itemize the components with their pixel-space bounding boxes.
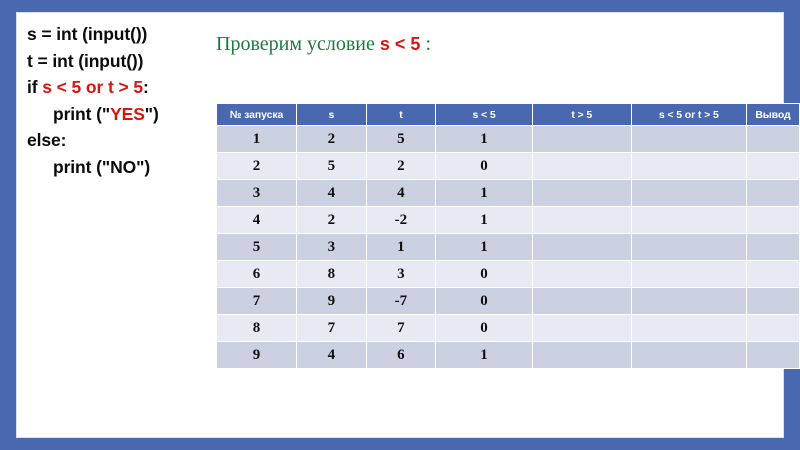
table-cell: 2 [217, 153, 296, 179]
code-keyword-highlight: s < 5 or t > 5 [42, 77, 143, 97]
table-cell: 2 [297, 207, 366, 233]
table-cell [747, 315, 799, 341]
table-cell: 3 [297, 234, 366, 260]
table-row: 79-70 [217, 288, 799, 314]
table-cell [632, 261, 746, 287]
table-cell: 5 [217, 234, 296, 260]
table-cell: 1 [436, 342, 532, 368]
column-header: № запуска [217, 104, 296, 125]
table-cell: 9 [217, 342, 296, 368]
table-cell: 4 [297, 180, 366, 206]
table-cell: 4 [367, 180, 436, 206]
code-text: else: [27, 130, 66, 150]
table-cell [632, 342, 746, 368]
table-cell: 7 [217, 288, 296, 314]
column-header: s < 5 [436, 104, 532, 125]
table-cell [533, 261, 631, 287]
table-cell [533, 126, 631, 152]
table-cell: 7 [297, 315, 366, 341]
table-cell: 9 [297, 288, 366, 314]
table-cell: -2 [367, 207, 436, 233]
table-cell [747, 153, 799, 179]
table-cell: 6 [367, 342, 436, 368]
table-cell [632, 180, 746, 206]
table-cell [533, 234, 631, 260]
trace-table: № запускаsts < 5t > 5s < 5 or t > 5Вывод… [216, 103, 800, 369]
table-cell [747, 180, 799, 206]
table-cell [632, 207, 746, 233]
table-cell [747, 342, 799, 368]
table-cell: 8 [217, 315, 296, 341]
code-text: print (" [53, 104, 110, 124]
table-cell: 1 [436, 126, 532, 152]
table-cell [632, 234, 746, 260]
table-cell [533, 342, 631, 368]
code-text: s = int (input()) [27, 24, 147, 44]
table-cell: 0 [436, 315, 532, 341]
table-cell: 1 [367, 234, 436, 260]
table-row: 8770 [217, 315, 799, 341]
column-header: t > 5 [533, 104, 631, 125]
table-cell: 0 [436, 153, 532, 179]
table-cell [747, 126, 799, 152]
python-code-block: s = int (input())t = int (input())if s <… [27, 21, 217, 180]
heading-suffix: : [425, 33, 431, 55]
code-line: t = int (input()) [27, 48, 217, 75]
table-cell: 7 [367, 315, 436, 341]
table-row: 1251 [217, 126, 799, 152]
column-header: s < 5 or t > 5 [632, 104, 746, 125]
table-cell: 1 [436, 207, 532, 233]
table-cell: 3 [217, 180, 296, 206]
section-heading: Проверим условие s < 5 : [216, 33, 431, 56]
table-body: 12512520344142-215311683079-7087709461 [217, 126, 799, 368]
slide-canvas: s = int (input())t = int (input())if s <… [0, 0, 800, 450]
column-header: s [297, 104, 366, 125]
column-header: t [367, 104, 436, 125]
code-text: : [143, 77, 149, 97]
table-cell: 0 [436, 288, 532, 314]
code-text: t = int (input()) [27, 51, 143, 71]
table-cell [747, 261, 799, 287]
code-text: if [27, 77, 42, 97]
table-row: 2520 [217, 153, 799, 179]
table-row: 5311 [217, 234, 799, 260]
table-cell: 0 [436, 261, 532, 287]
table-cell [533, 315, 631, 341]
code-text: print ("NO") [53, 157, 150, 177]
table-header-row: № запускаsts < 5t > 5s < 5 or t > 5Вывод [217, 104, 799, 125]
table-cell [533, 288, 631, 314]
table-cell: 1 [436, 234, 532, 260]
table-cell: 1 [217, 126, 296, 152]
table-cell: 5 [367, 126, 436, 152]
table-cell: 2 [367, 153, 436, 179]
table-cell [533, 180, 631, 206]
slide-content-area: s = int (input())t = int (input())if s <… [16, 12, 784, 438]
table-cell: 8 [297, 261, 366, 287]
table-cell: 1 [436, 180, 532, 206]
table-cell [533, 153, 631, 179]
table-cell: 4 [217, 207, 296, 233]
table-cell: 5 [297, 153, 366, 179]
table-cell [747, 288, 799, 314]
code-line: if s < 5 or t > 5: [27, 74, 217, 101]
table-cell: 6 [217, 261, 296, 287]
table-cell [632, 153, 746, 179]
table-row: 9461 [217, 342, 799, 368]
table-cell [533, 207, 631, 233]
column-header: Вывод [747, 104, 799, 125]
code-line: else: [27, 127, 217, 154]
table-row: 6830 [217, 261, 799, 287]
code-line: print ("YES") [27, 101, 217, 128]
table-cell [632, 126, 746, 152]
table-row: 3441 [217, 180, 799, 206]
code-keyword-highlight: YES [110, 104, 145, 124]
table-cell: 2 [297, 126, 366, 152]
table-cell: 3 [367, 261, 436, 287]
heading-prefix: Проверим условие [216, 33, 375, 55]
table-cell [632, 315, 746, 341]
table-header: № запускаsts < 5t > 5s < 5 or t > 5Вывод [217, 104, 799, 125]
table-cell [747, 234, 799, 260]
heading-condition: s < 5 [380, 34, 421, 54]
table-cell [747, 207, 799, 233]
code-text: ") [145, 104, 159, 124]
table-cell: 4 [297, 342, 366, 368]
code-line: print ("NO") [27, 154, 217, 181]
code-line: s = int (input()) [27, 21, 217, 48]
table-cell [632, 288, 746, 314]
table-row: 42-21 [217, 207, 799, 233]
table-cell: -7 [367, 288, 436, 314]
